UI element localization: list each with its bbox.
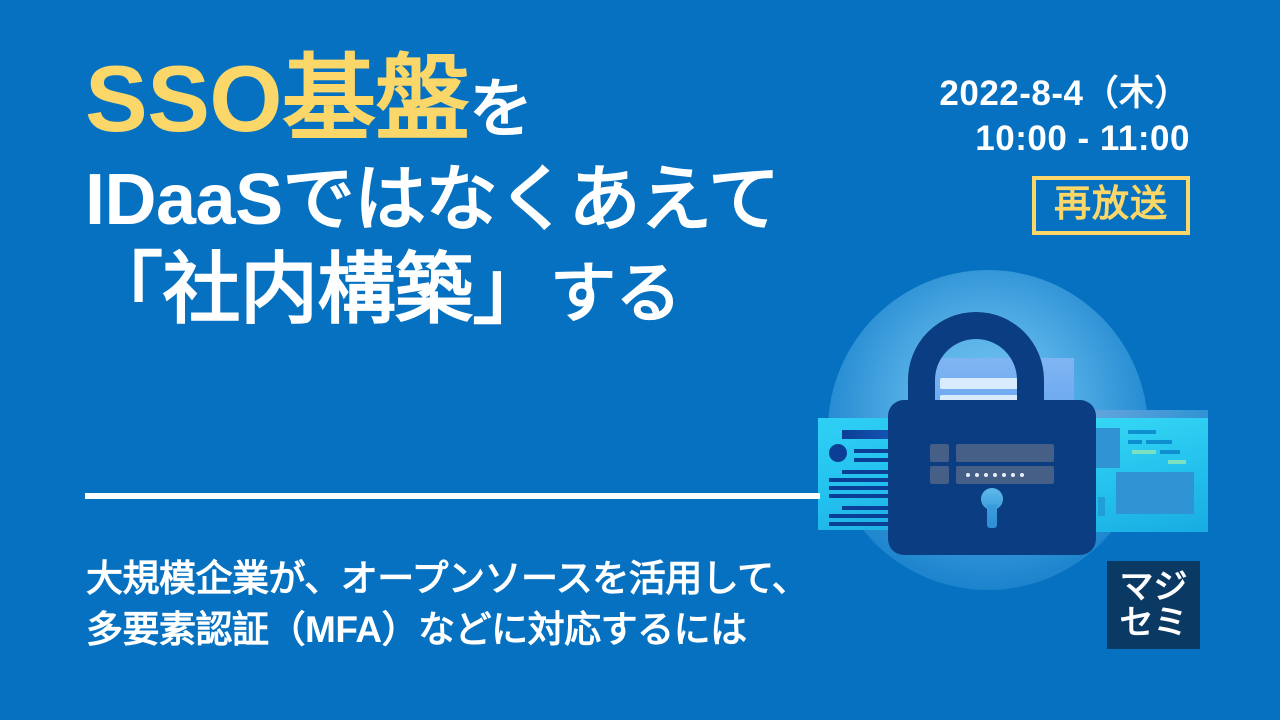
dashboard-text-line — [1132, 450, 1156, 454]
webinar-banner: SSO基盤を IDaaSではなくあえて 「社内構築」する 大規模企業が、オープン… — [0, 0, 1280, 720]
schedule-block: 2022-8-4（木） 10:00 - 11:00 再放送 — [939, 72, 1190, 235]
dashboard-text-line — [1168, 460, 1186, 464]
headline-accent-text: SSO基盤 — [85, 46, 469, 151]
dashboard-text-line — [1128, 440, 1142, 444]
event-date: 2022-8-4（木） — [939, 72, 1190, 117]
dashboard-text-line — [1128, 430, 1156, 434]
username-field — [956, 444, 1054, 462]
headline-quoted-text: 「社内構築」 — [85, 245, 550, 333]
headline-line-3: 「社内構築」する — [85, 250, 845, 328]
logo-line-2: セミ — [1120, 605, 1188, 641]
document-avatar-icon — [829, 444, 847, 462]
dashboard-block — [1116, 472, 1194, 514]
lock-icon — [930, 466, 949, 484]
subtitle-line-2: 多要素認証（MFA）などに対応するには — [86, 604, 808, 655]
headline-line-1: SSO基盤を — [85, 52, 845, 146]
padlock-body — [888, 400, 1096, 555]
subtitle: 大規模企業が、オープンソースを活用して、 多要素認証（MFA）などに対応するには — [86, 553, 808, 655]
event-time: 10:00 - 11:00 — [939, 117, 1190, 162]
headline-particle: を — [469, 73, 533, 145]
subtitle-line-1: 大規模企業が、オープンソースを活用して、 — [86, 553, 808, 604]
majisemi-logo: マジ セミ — [1107, 561, 1200, 649]
dashboard-text-line — [1146, 440, 1172, 444]
divider-rule — [85, 493, 820, 499]
user-icon — [930, 444, 949, 462]
headline-line-2: IDaaSではなくあえて — [85, 164, 845, 236]
logo-line-1: マジ — [1120, 569, 1188, 605]
rebroadcast-badge: 再放送 — [1032, 176, 1190, 236]
headline-line3-tail: する — [550, 256, 681, 330]
padlock-security-illustration — [800, 270, 1240, 590]
password-dots — [966, 473, 1024, 477]
dashboard-text-line — [1160, 450, 1180, 454]
dashboard-bar — [1098, 497, 1105, 516]
keyhole-stem — [987, 504, 997, 528]
headline: SSO基盤を IDaaSではなくあえて 「社内構築」する — [85, 52, 845, 328]
